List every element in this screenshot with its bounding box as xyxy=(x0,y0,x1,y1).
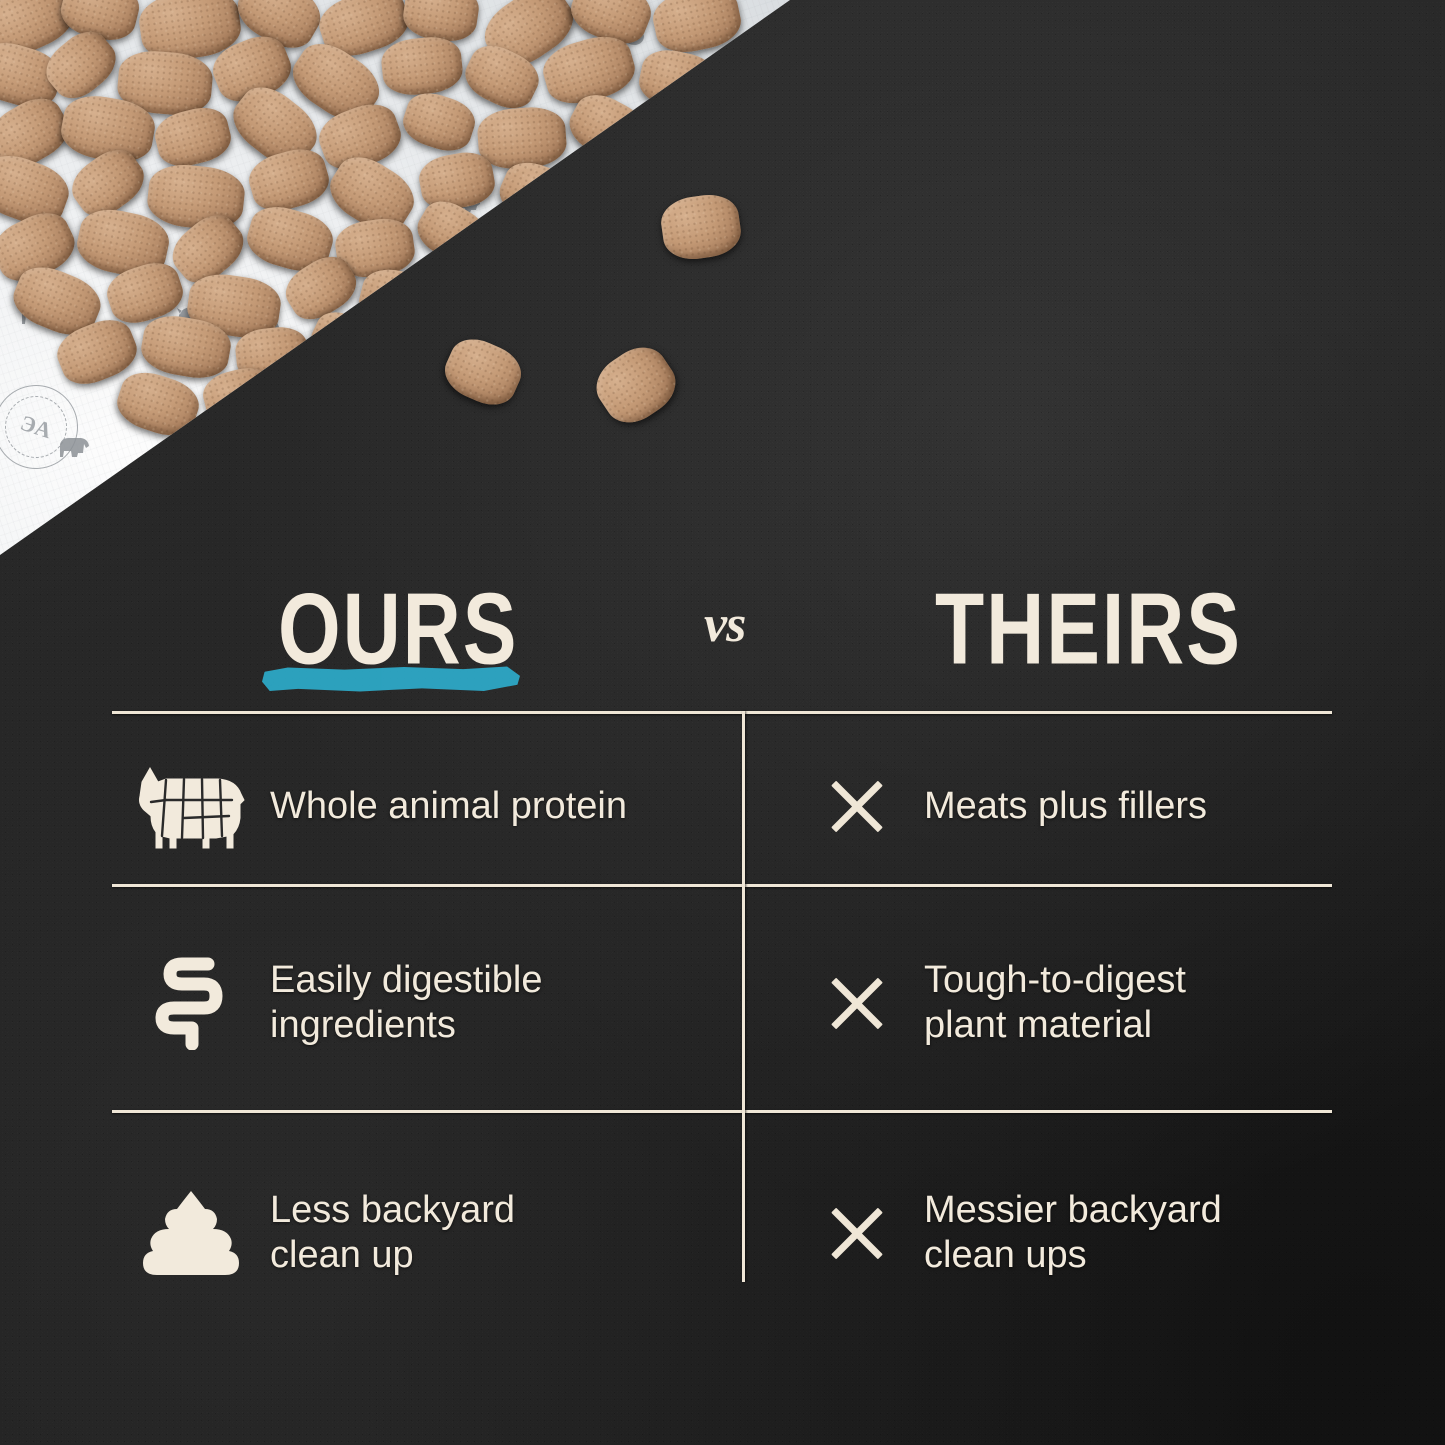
table-divider-middle-1 xyxy=(112,884,1332,887)
table-row: Tough-to-digest plant material xyxy=(790,915,1390,1091)
ours-heading-group: OURS xyxy=(278,578,526,661)
theirs-row-1-text: Meats plus fillers xyxy=(924,784,1207,829)
theirs-heading-group: THEIRS xyxy=(935,578,1251,661)
theirs-row-3-line-1: Messier backyard xyxy=(924,1188,1222,1233)
teal-brushstroke-underline xyxy=(262,666,520,692)
ours-row-2-text: Easily digestible ingredients xyxy=(270,958,542,1048)
ours-row-3-line-1: Less backyard xyxy=(270,1188,515,1233)
table-row: Less backyard clean up xyxy=(112,1145,732,1321)
x-icon xyxy=(790,778,924,834)
ours-heading: OURS xyxy=(278,578,518,679)
table-row: Whole animal protein xyxy=(112,740,732,872)
table-row: Easily digestible ingredients xyxy=(112,915,732,1091)
table-divider-vertical xyxy=(742,711,745,1282)
cow-butcher-cuts-icon xyxy=(112,758,270,854)
theirs-row-2-line-1: Tough-to-digest xyxy=(924,958,1186,1003)
ours-row-3-line-2: clean up xyxy=(270,1233,515,1278)
ours-row-1-text: Whole animal protein xyxy=(270,784,627,829)
theirs-row-3-text: Messier backyard clean ups xyxy=(924,1188,1222,1278)
table-row: Meats plus fillers xyxy=(790,740,1390,872)
vs-label: vs xyxy=(704,595,745,654)
intestine-icon xyxy=(112,956,270,1050)
ours-row-2-line-2: ingredients xyxy=(270,1003,542,1048)
theirs-heading: THEIRS xyxy=(935,578,1242,679)
theirs-row-2-line-2: plant material xyxy=(924,1003,1186,1048)
x-icon xyxy=(790,1205,924,1261)
theirs-row-2-text: Tough-to-digest plant material xyxy=(924,958,1186,1048)
theirs-row-3-line-2: clean ups xyxy=(924,1233,1222,1278)
ours-row-2-line-1: Easily digestible xyxy=(270,958,542,1003)
table-row: Messier backyard clean ups xyxy=(790,1145,1390,1321)
table-divider-middle-2 xyxy=(112,1110,1332,1113)
ours-row-3-text: Less backyard clean up xyxy=(270,1188,515,1278)
comparison-table: OURS vs THEIRS xyxy=(0,0,1445,1445)
table-divider-top xyxy=(112,711,1332,714)
x-icon xyxy=(790,975,924,1031)
poop-icon xyxy=(112,1187,270,1279)
